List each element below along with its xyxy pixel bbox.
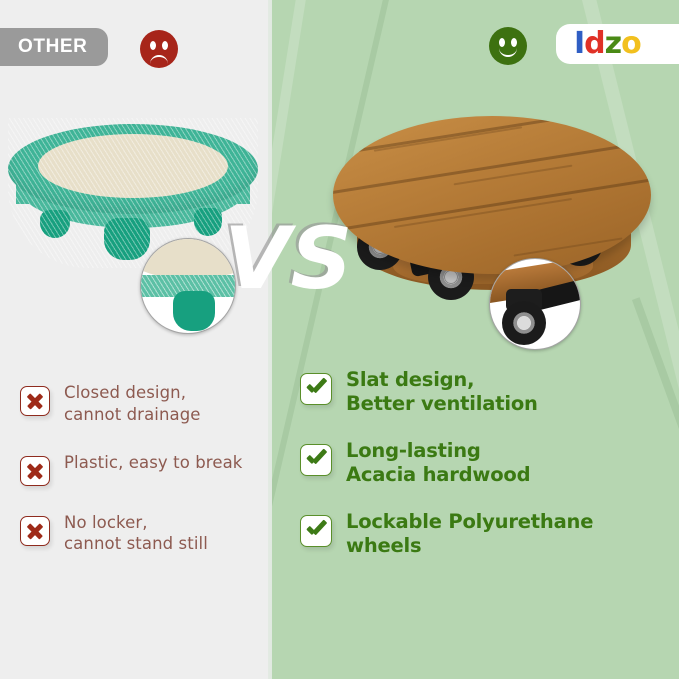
list-item: No locker, cannot stand still [20, 512, 270, 556]
x-mark-icon [20, 386, 50, 416]
happy-face-right-eye [511, 38, 517, 47]
logo-letter-4: o [621, 26, 641, 61]
list-item: Plastic, easy to break [20, 452, 270, 486]
check-mark-icon [300, 515, 332, 547]
list-item: Closed design, cannot drainage [20, 382, 270, 426]
sad-face-right-eye [162, 41, 168, 50]
happy-face-mouth [499, 48, 517, 57]
happy-face-left-eye [499, 38, 505, 47]
logo-letter-2: d [584, 26, 604, 61]
plastic-caddy-inner-surface [38, 134, 228, 198]
wood-grain [394, 198, 572, 228]
list-item: Long-lasting Acacia hardwood [300, 439, 670, 488]
feature-text: Slat design, Better ventilation [346, 368, 538, 417]
other-badge-label: OTHER [18, 36, 88, 58]
sad-face-icon [140, 30, 178, 68]
check-mark-icon [300, 444, 332, 476]
magnifier-foot [173, 291, 215, 331]
plastic-caddy-foot-left [40, 210, 70, 238]
wood-grain [374, 126, 522, 151]
feature-text: Long-lasting Acacia hardwood [346, 439, 530, 488]
logo-letter-1: I [574, 26, 584, 61]
wood-caddy-top [333, 116, 651, 274]
plastic-caddy-magnifier [140, 238, 236, 334]
list-item: Lockable Polyurethane wheels [300, 510, 670, 559]
left-feature-list: Closed design, cannot drainage Plastic, … [20, 382, 270, 581]
left-panel-other: OTHER Closed design [0, 0, 268, 679]
list-item: Slat design, Better ventilation [300, 368, 670, 417]
feature-text: Lockable Polyurethane wheels [346, 510, 593, 559]
plastic-caddy-foot-right [194, 208, 222, 236]
right-feature-list: Slat design, Better ventilation Long-las… [300, 368, 670, 580]
feature-text: Closed design, cannot drainage [64, 382, 201, 426]
brand-logo-text: Idzo [574, 29, 641, 59]
x-mark-icon [20, 456, 50, 486]
magnifier-inner-surface [140, 238, 236, 279]
sad-face-mouth [150, 55, 168, 64]
feature-text: Plastic, easy to break [64, 452, 242, 474]
check-mark-icon [300, 373, 332, 405]
wood-slat-gap [333, 116, 651, 159]
brand-logo: Idzo [556, 24, 679, 64]
feature-text: No locker, cannot stand still [64, 512, 208, 556]
comparison-infographic: OTHER Closed design [0, 0, 679, 679]
magnifier-caster-wheel [502, 289, 548, 341]
vs-label: VS [224, 216, 353, 302]
other-badge: OTHER [0, 28, 108, 66]
happy-face-icon [489, 27, 527, 65]
x-mark-icon [20, 516, 50, 546]
sad-face-left-eye [150, 41, 156, 50]
logo-letter-3: z [605, 26, 621, 61]
caster-wheel-magnifier [489, 258, 581, 350]
